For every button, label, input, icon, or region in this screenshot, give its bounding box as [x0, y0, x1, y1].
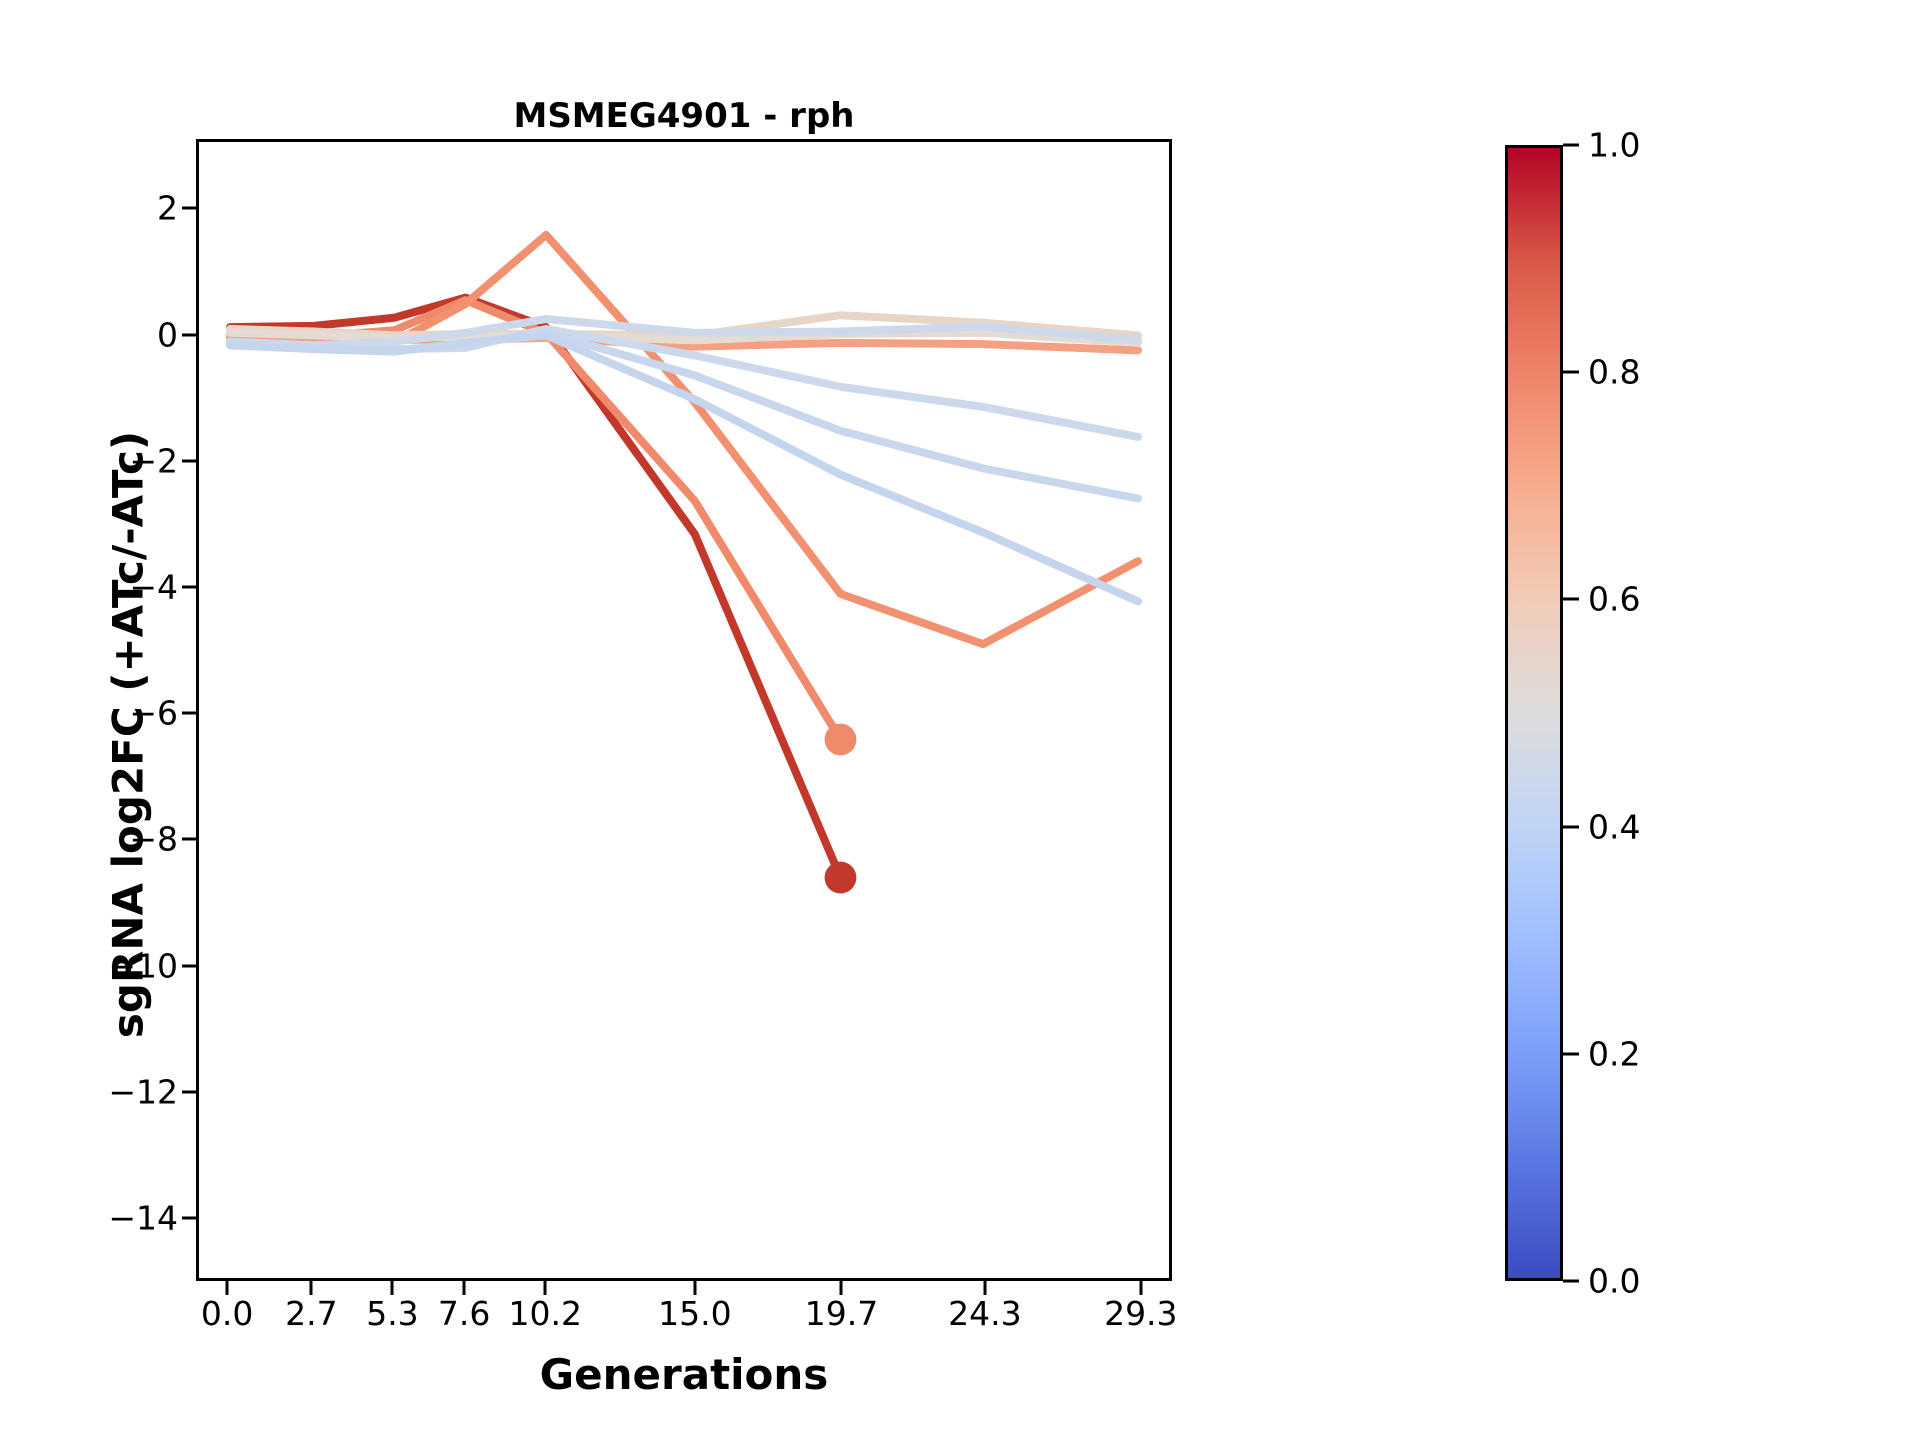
x-tick-label: 2.7: [285, 1294, 337, 1333]
series-line: [230, 333, 1138, 499]
y-tick-label: −14: [38, 1198, 178, 1237]
x-tick-label: 15.0: [658, 1294, 731, 1333]
x-tick-mark: [391, 1281, 394, 1295]
x-tick-mark: [226, 1281, 229, 1295]
x-tick-mark: [310, 1281, 313, 1295]
series-line: [230, 235, 1138, 644]
chart-page: MSMEG4901 - rph 20−2−4−6−8−10−12−14 0.02…: [0, 0, 1920, 1440]
y-tick-label: 2: [38, 189, 178, 228]
x-tick-label: 7.6: [438, 1294, 490, 1333]
colorbar-tick-mark: [1563, 1052, 1579, 1055]
x-tick-label: 10.2: [508, 1294, 581, 1333]
x-tick-label: 5.3: [366, 1294, 418, 1333]
plot-area: [196, 139, 1172, 1281]
x-tick-mark: [693, 1281, 696, 1295]
colorbar: [1505, 145, 1563, 1281]
y-tick-mark: [182, 712, 196, 715]
x-tick-mark: [463, 1281, 466, 1295]
y-tick-mark: [182, 459, 196, 462]
y-axis-title: sgRNA log2FC (+ATc/-ATc): [104, 285, 153, 1185]
colorbar-tick-label: 0.2: [1588, 1034, 1640, 1073]
y-tick-mark: [182, 1090, 196, 1093]
colorbar-gradient: [1505, 145, 1563, 1281]
series-endpoint-marker: [825, 862, 857, 894]
x-tick-mark: [983, 1281, 986, 1295]
series-endpoint-marker: [825, 724, 857, 756]
colorbar-tick-label: 0.0: [1588, 1262, 1640, 1301]
colorbar-tick-mark: [1563, 144, 1579, 147]
page-title: MSMEG4901 - rph: [196, 96, 1172, 136]
x-tick-label: 24.3: [948, 1294, 1021, 1333]
colorbar-tick-label: 1.0: [1588, 126, 1640, 165]
y-tick-mark: [182, 207, 196, 210]
colorbar-tick-label: 0.6: [1588, 580, 1640, 619]
x-tick-mark: [544, 1281, 547, 1295]
x-tick-mark: [840, 1281, 843, 1295]
colorbar-tick-mark: [1563, 371, 1579, 374]
colorbar-tick-mark: [1563, 825, 1579, 828]
colorbar-tick-label: 0.4: [1588, 807, 1640, 846]
y-tick-mark: [182, 964, 196, 967]
y-tick-mark: [182, 1216, 196, 1219]
colorbar-tick-mark: [1563, 1280, 1579, 1283]
y-tick-mark: [182, 585, 196, 588]
x-axis-title: Generations: [196, 1350, 1172, 1399]
x-tick-label: 0.0: [201, 1294, 253, 1333]
colorbar-tick-mark: [1563, 598, 1579, 601]
y-tick-mark: [182, 333, 196, 336]
x-tick-mark: [1139, 1281, 1142, 1295]
y-tick-mark: [182, 838, 196, 841]
x-tick-label: 19.7: [805, 1294, 878, 1333]
plot-svg: [199, 142, 1169, 1278]
x-tick-label: 29.3: [1104, 1294, 1177, 1333]
colorbar-tick-label: 0.8: [1588, 353, 1640, 392]
